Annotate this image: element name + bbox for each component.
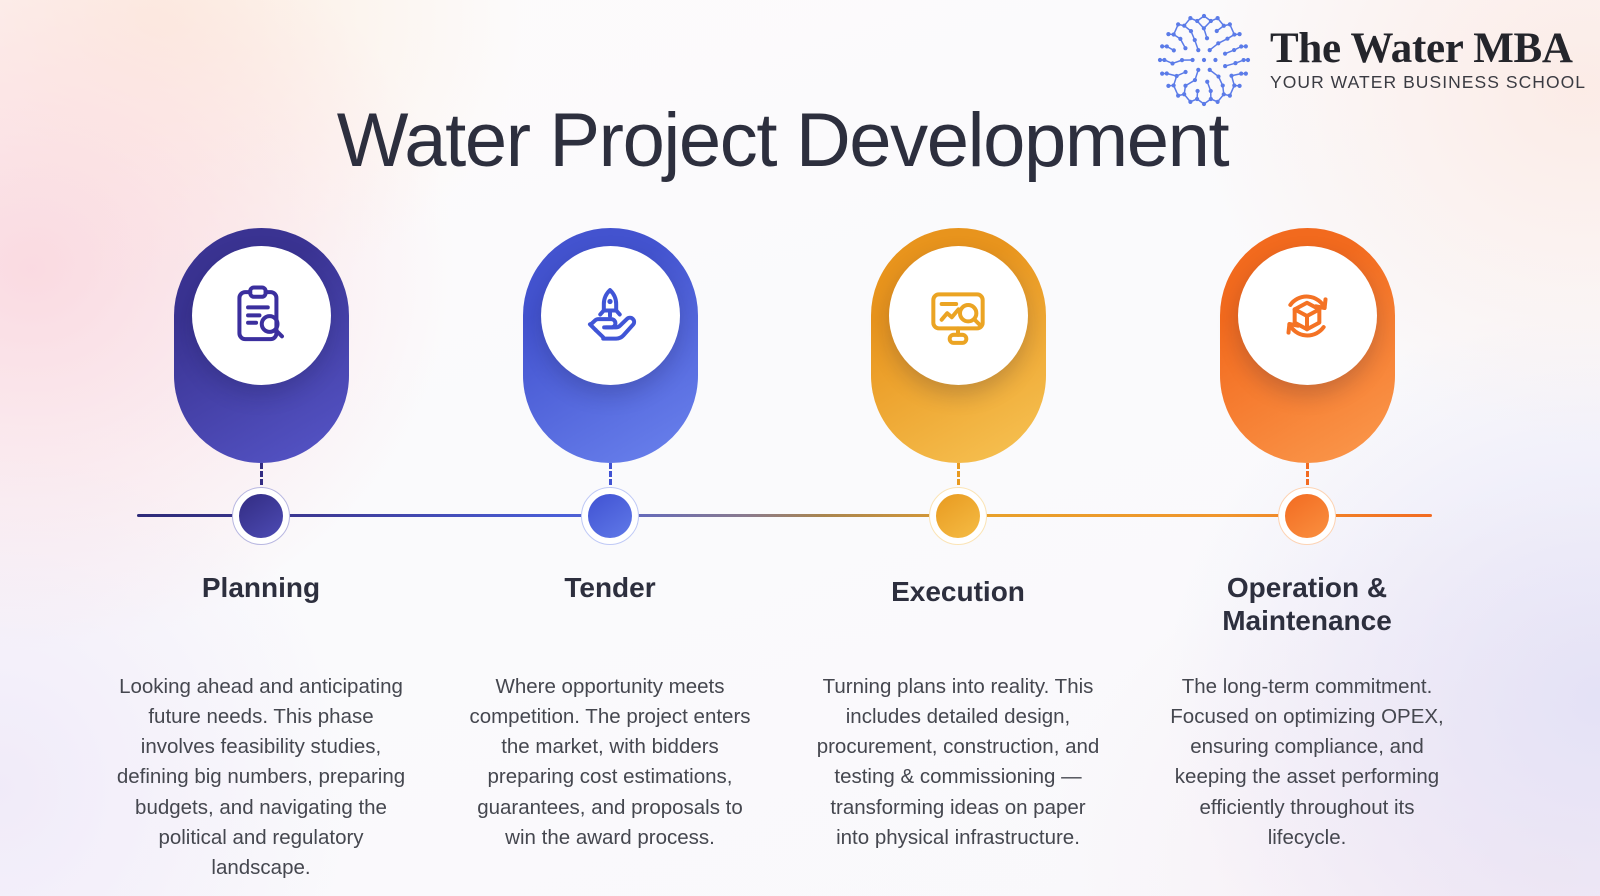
hand-rocket-icon	[573, 279, 647, 353]
node-dot	[936, 494, 980, 538]
timeline-node-tender[interactable]	[581, 487, 639, 545]
step-description-execution: Turning plans into reality. This include…	[793, 672, 1123, 853]
step-title-operation-maintenance: Operation & Maintenance	[1157, 572, 1457, 638]
timeline-node-operation-maintenance[interactable]	[1278, 487, 1336, 545]
step-icon-badge	[1238, 246, 1377, 385]
step-pill-execution[interactable]	[871, 228, 1046, 463]
cube-refresh-cycle-icon	[1270, 279, 1344, 353]
timeline-node-planning[interactable]	[232, 487, 290, 545]
step-pill-tender[interactable]	[523, 228, 698, 463]
timeline-axis-line	[137, 514, 1432, 517]
node-dot	[1285, 494, 1329, 538]
step-title-execution: Execution	[808, 576, 1108, 609]
monitor-analytics-search-icon	[921, 279, 995, 353]
step-icon-badge	[541, 246, 680, 385]
infographic-canvas: The Water MBA YOUR WATER BUSINESS SCHOOL…	[0, 0, 1600, 896]
step-title-tender: Tender	[460, 572, 760, 605]
step-description-planning: Looking ahead and anticipating future ne…	[96, 672, 426, 883]
step-description-tender: Where opportunity meets competition. The…	[445, 672, 775, 853]
step-pill-planning[interactable]	[174, 228, 349, 463]
timeline-node-execution[interactable]	[929, 487, 987, 545]
clipboard-search-icon	[224, 279, 298, 353]
step-icon-badge	[192, 246, 331, 385]
step-pill-operation-maintenance[interactable]	[1220, 228, 1395, 463]
step-description-operation-maintenance: The long-term commitment. Focused on opt…	[1142, 672, 1472, 853]
process-timeline: Planning Looking ahead and anticipating …	[0, 0, 1600, 896]
step-icon-badge	[889, 246, 1028, 385]
node-dot	[239, 494, 283, 538]
node-dot	[588, 494, 632, 538]
step-title-planning: Planning	[111, 572, 411, 605]
